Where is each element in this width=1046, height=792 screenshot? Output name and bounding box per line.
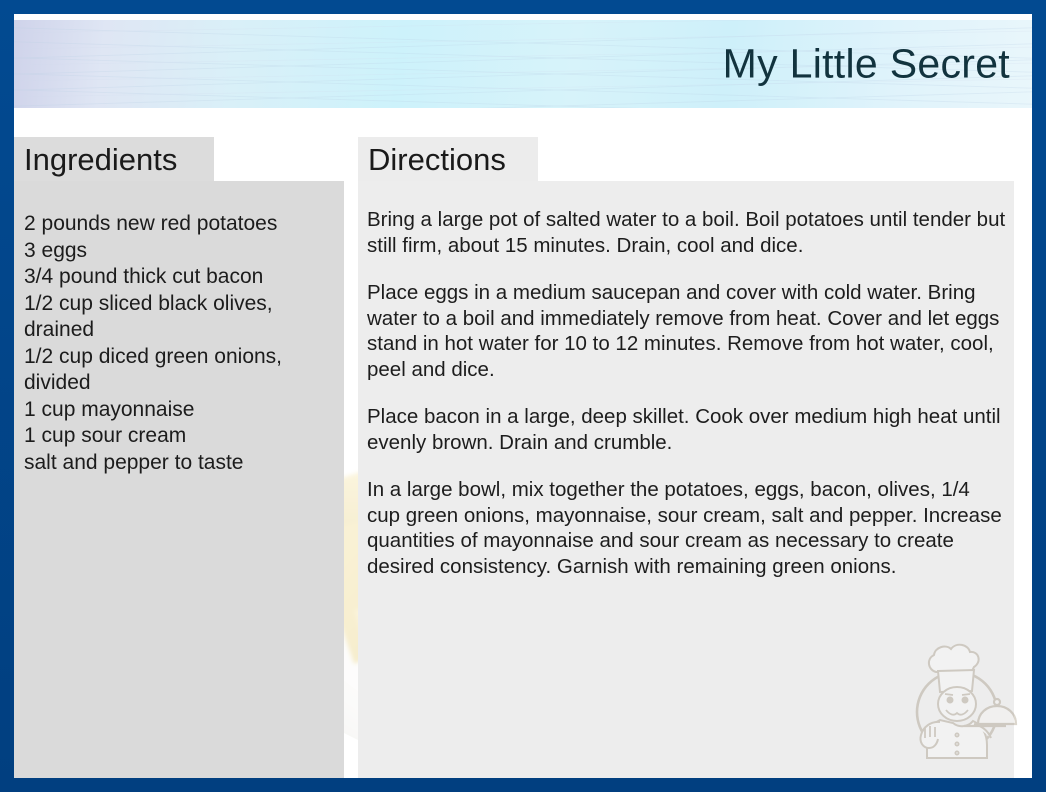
ingredients-heading-label: Ingredients	[24, 144, 177, 175]
direction-step: Bring a large pot of salted water to a b…	[367, 207, 1006, 258]
list-item: 1 cup sour cream	[24, 423, 330, 450]
section-heading-ingredients: Ingredients	[14, 137, 214, 181]
header-banner: My Little Secret	[14, 20, 1032, 108]
recipe-card: My Little Secret Ingredients Directions	[0, 0, 1046, 792]
ingredients-panel: 2 pounds new red potatoes 3 eggs 3/4 pou…	[14, 181, 344, 778]
list-item: 1 cup mayonnaise	[24, 397, 330, 424]
section-heading-directions: Directions	[358, 137, 538, 181]
list-item: 3 eggs	[24, 238, 330, 265]
list-item: 2 pounds new red potatoes	[24, 211, 330, 238]
page-title: My Little Secret	[723, 41, 1010, 88]
list-item: 3/4 pound thick cut bacon	[24, 264, 330, 291]
list-item: 1/2 cup sliced black olives, drained	[24, 291, 330, 344]
list-item: salt and pepper to taste	[24, 450, 330, 477]
directions-heading-label: Directions	[368, 144, 506, 175]
direction-step: Place eggs in a medium saucepan and cove…	[367, 280, 1006, 382]
directions-panel: Bring a large pot of salted water to a b…	[358, 181, 1014, 778]
list-item: 1/2 cup diced green onions, divided	[24, 344, 330, 397]
direction-step: Place bacon in a large, deep skillet. Co…	[367, 404, 1006, 455]
directions-steps: Bring a large pot of salted water to a b…	[367, 207, 1006, 579]
direction-step: In a large bowl, mix together the potato…	[367, 477, 1006, 579]
card-inner-surface: My Little Secret Ingredients Directions	[14, 14, 1032, 778]
ingredients-list: 2 pounds new red potatoes 3 eggs 3/4 pou…	[24, 211, 330, 476]
